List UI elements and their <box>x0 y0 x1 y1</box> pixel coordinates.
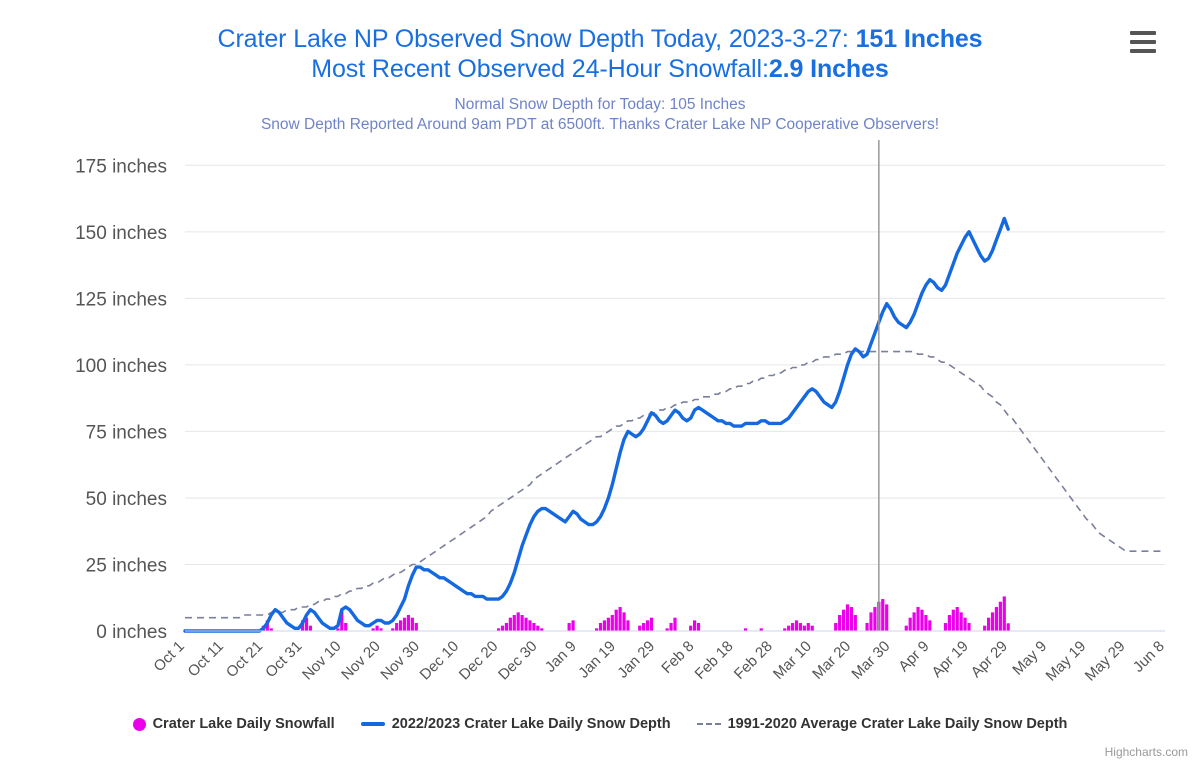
legend-label-average: 1991-2020 Average Crater Lake Daily Snow… <box>728 716 1068 732</box>
svg-text:125 inches: 125 inches <box>75 289 167 310</box>
y-axis-labels: 0 inches25 inches50 inches75 inches100 i… <box>75 156 167 643</box>
svg-text:Oct 1: Oct 1 <box>150 638 187 675</box>
snowfall-bars <box>262 596 1010 631</box>
legend-item-depth[interactable]: 2022/2023 Crater Lake Daily Snow Depth <box>361 716 671 732</box>
average-dash-icon <box>697 723 721 725</box>
svg-text:Oct 21: Oct 21 <box>223 638 266 681</box>
depth-line-icon <box>361 722 385 726</box>
svg-text:Mar 10: Mar 10 <box>770 638 815 683</box>
svg-text:0 inches: 0 inches <box>96 622 167 643</box>
svg-text:Mar 30: Mar 30 <box>848 638 893 683</box>
svg-text:Mar 20: Mar 20 <box>809 638 854 683</box>
legend-item-snowfall[interactable]: Crater Lake Daily Snowfall <box>133 716 335 732</box>
svg-text:175 inches: 175 inches <box>75 156 167 177</box>
highcharts-container: Crater Lake NP Observed Snow Depth Today… <box>0 0 1200 768</box>
observed-depth-line <box>185 219 1008 632</box>
svg-text:Oct 11: Oct 11 <box>185 638 227 680</box>
svg-text:150 inches: 150 inches <box>75 223 167 244</box>
average-depth-line <box>185 352 1165 618</box>
svg-text:May 19: May 19 <box>1043 638 1090 685</box>
x-axis-labels: Oct 1Oct 11Oct 21Oct 31Nov 10Nov 20Nov 3… <box>150 638 1167 685</box>
svg-text:May 29: May 29 <box>1082 638 1129 685</box>
svg-text:100 inches: 100 inches <box>75 356 167 377</box>
svg-text:50 inches: 50 inches <box>86 489 167 510</box>
svg-text:Nov 20: Nov 20 <box>338 638 384 684</box>
snowfall-dot-icon <box>133 718 146 731</box>
svg-text:Dec 10: Dec 10 <box>417 638 463 684</box>
svg-text:Dec 20: Dec 20 <box>456 638 502 684</box>
svg-text:Jan 9: Jan 9 <box>542 638 580 676</box>
legend-item-average[interactable]: 1991-2020 Average Crater Lake Daily Snow… <box>697 716 1068 732</box>
chart-legend: Crater Lake Daily Snowfall 2022/2023 Cra… <box>0 716 1200 732</box>
svg-text:Feb 28: Feb 28 <box>731 638 776 683</box>
svg-text:Apr 9: Apr 9 <box>895 638 932 675</box>
svg-text:Apr 29: Apr 29 <box>968 638 1011 681</box>
svg-text:Jan 19: Jan 19 <box>575 638 619 682</box>
svg-text:Apr 19: Apr 19 <box>929 638 972 681</box>
legend-label-snowfall: Crater Lake Daily Snowfall <box>153 716 335 732</box>
svg-text:25 inches: 25 inches <box>86 555 167 576</box>
highcharts-credit[interactable]: Highcharts.com <box>1105 745 1188 759</box>
y-gridlines <box>185 165 1165 631</box>
chart-svg: 0 inches25 inches50 inches75 inches100 i… <box>0 0 1200 768</box>
svg-text:Dec 30: Dec 30 <box>495 638 541 684</box>
svg-text:Oct 31: Oct 31 <box>262 638 305 681</box>
svg-text:Feb 18: Feb 18 <box>692 638 737 683</box>
svg-text:Jun 8: Jun 8 <box>1130 638 1168 676</box>
svg-text:Nov 10: Nov 10 <box>299 638 345 684</box>
svg-text:Jan 29: Jan 29 <box>614 638 658 682</box>
svg-text:Nov 30: Nov 30 <box>377 638 423 684</box>
svg-text:75 inches: 75 inches <box>86 422 167 443</box>
plot-area-wrapper: 0 inches25 inches50 inches75 inches100 i… <box>0 0 1200 768</box>
legend-label-depth: 2022/2023 Crater Lake Daily Snow Depth <box>392 716 671 732</box>
